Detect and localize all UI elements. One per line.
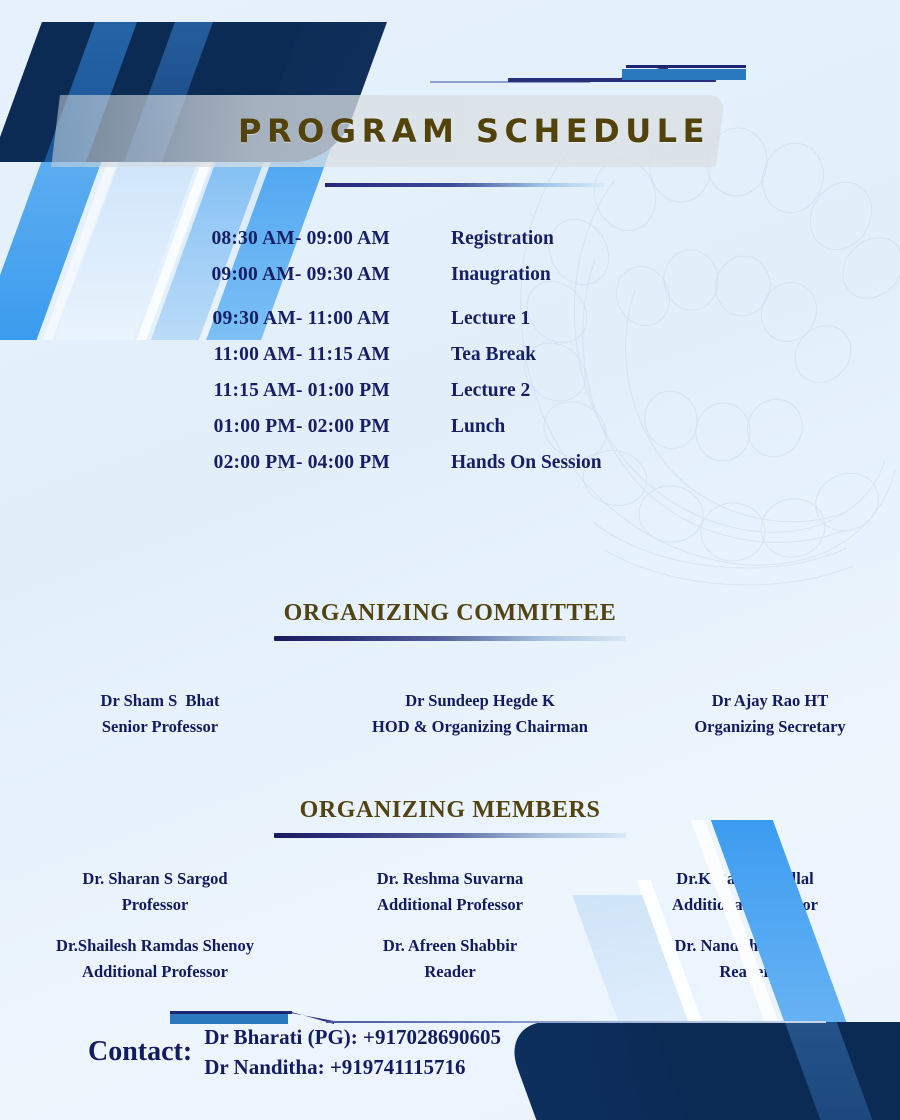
table-row: 11:15 AM- 01:00 PM Lecture 2 (0, 380, 900, 402)
contact-line[interactable]: Dr Nanditha: +919741115716 (204, 1052, 501, 1082)
deco-br-navy-block (501, 1022, 900, 1120)
list-item: Dr Sham S Bhat Senior Professor (0, 688, 320, 739)
schedule-time: 09:00 AM- 09:30 AM (0, 264, 390, 286)
schedule-time: 02:00 PM- 04:00 PM (0, 452, 390, 474)
person-role: Senior Professor (0, 714, 320, 740)
list-item: Dr.K Raksha Ballal Additional Professor (590, 866, 900, 917)
page-title: PROGRAM SCHEDULE (238, 112, 758, 150)
person-name: Dr. Reshma Suvarna (310, 866, 590, 892)
schedule-time: 01:00 PM- 02:00 PM (0, 416, 390, 438)
step-slant (612, 66, 668, 80)
schedule-list: 08:30 AM- 09:00 AM Registration 09:00 AM… (0, 228, 900, 474)
person-role: Professor (0, 892, 310, 918)
title-underline (325, 183, 605, 187)
section-title-members: ORGANIZING MEMBERS (0, 797, 900, 824)
step-rule-navy (508, 78, 716, 82)
person-name: Dr Sundeep Hegde K (320, 688, 640, 714)
schedule-time: 09:30 AM- 11:00 AM (0, 308, 390, 330)
members-row-2: Dr.Shailesh Ramdas Shenoy Additional Pro… (0, 933, 900, 984)
person-name: Dr. Sharan S Sargod (0, 866, 310, 892)
list-item: Dr Sundeep Hegde K HOD & Organizing Chai… (320, 688, 640, 739)
person-name: Dr. Nanditha Hegde (590, 933, 900, 959)
top-stepped-line (430, 60, 760, 90)
person-role: Additional Professor (0, 959, 310, 985)
list-item: Dr.Shailesh Ramdas Shenoy Additional Pro… (0, 933, 310, 984)
person-name: Dr. Afreen Shabbir (310, 933, 590, 959)
contact-lines: Dr Bharati (PG): +917028690605 Dr Nandit… (204, 1022, 501, 1083)
person-role: Additional Professor (590, 892, 900, 918)
step-rule-thin (430, 81, 590, 83)
person-role: HOD & Organizing Chairman (320, 714, 640, 740)
schedule-item: Lecture 1 (390, 308, 900, 330)
table-row: 11:00 AM- 11:15 AM Tea Break (0, 344, 900, 366)
schedule-time: 08:30 AM- 09:00 AM (0, 228, 390, 250)
deco-navy-stripe-2 (124, 22, 213, 162)
members-row-1: Dr. Sharan S Sargod Professor Dr. Reshma… (0, 866, 900, 917)
person-name: Dr.K Raksha Ballal (590, 866, 900, 892)
person-role: Organizing Secretary (640, 714, 900, 740)
contact-block: Contact: Dr Bharati (PG): +917028690605 … (88, 1022, 501, 1083)
step-bar-blue (622, 69, 746, 80)
person-name: Dr Ajay Rao HT (640, 688, 900, 714)
list-item: Dr. Nanditha Hegde Reader (590, 933, 900, 984)
step-rule-navy-upper (626, 65, 746, 68)
table-row: 09:00 AM- 09:30 AM Inaugration (0, 264, 900, 286)
person-name: Dr.Shailesh Ramdas Shenoy (0, 933, 310, 959)
section-underline (274, 833, 626, 838)
list-item: Dr. Reshma Suvarna Additional Professor (310, 866, 590, 917)
table-row: 09:30 AM- 11:00 AM Lecture 1 (0, 308, 900, 330)
table-row: 08:30 AM- 09:00 AM Registration (0, 228, 900, 250)
section-underline (274, 636, 626, 641)
committee-heading-block: ORGANIZING COMMITTEE (0, 600, 900, 641)
deco-br-navy-inner (651, 1022, 900, 1120)
person-role: Reader (590, 959, 900, 985)
deco-br-accent (785, 1022, 876, 1120)
contact-label: Contact: (88, 1036, 192, 1068)
schedule-item: Lecture 2 (390, 380, 900, 402)
committee-people: Dr Sham S Bhat Senior Professor Dr Sunde… (0, 688, 900, 739)
list-item: Dr Ajay Rao HT Organizing Secretary (640, 688, 900, 739)
schedule-item: Tea Break (390, 344, 900, 366)
step-cap (170, 1011, 292, 1014)
table-row: 01:00 PM- 02:00 PM Lunch (0, 416, 900, 438)
table-row: 02:00 PM- 04:00 PM Hands On Session (0, 452, 900, 474)
schedule-item: Hands On Session (390, 452, 900, 474)
deco-navy-stripe-1 (44, 22, 137, 162)
schedule-item: Inaugration (390, 264, 900, 286)
schedule-item: Registration (390, 228, 900, 250)
person-role: Reader (310, 959, 590, 985)
deco-br-stripe-5 (572, 895, 724, 1120)
program-schedule-poster: PROGRAM SCHEDULE 08:30 AM- 09:00 AM Regi… (0, 0, 900, 1120)
schedule-time: 11:00 AM- 11:15 AM (0, 344, 390, 366)
person-name: Dr Sham S Bhat (0, 688, 320, 714)
members-heading-block: ORGANIZING MEMBERS (0, 797, 900, 838)
contact-line[interactable]: Dr Bharati (PG): +917028690605 (204, 1022, 501, 1052)
list-item: Dr. Sharan S Sargod Professor (0, 866, 310, 917)
person-role: Additional Professor (310, 892, 590, 918)
schedule-time: 11:15 AM- 01:00 PM (0, 380, 390, 402)
section-title-committee: ORGANIZING COMMITTEE (0, 600, 900, 627)
list-item: Dr. Afreen Shabbir Reader (310, 933, 590, 984)
schedule-item: Lunch (390, 416, 900, 438)
